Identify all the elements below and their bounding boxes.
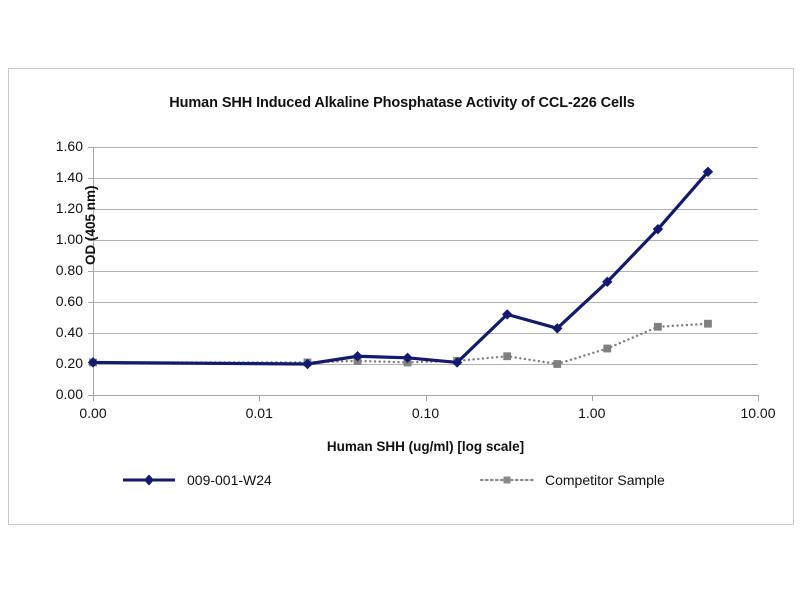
chart-figure: Human SHH Induced Alkaline Phosphatase A… [8, 68, 794, 525]
y-tick-label: 0.60 [31, 293, 83, 309]
x-axis-line [93, 395, 758, 396]
legend-swatch-dotted-square [479, 472, 535, 488]
y-tick-label: 1.40 [31, 169, 83, 185]
legend-swatch-solid-diamond [121, 472, 177, 488]
series-layer [93, 147, 758, 395]
legend-label-series-1: Competitor Sample [545, 472, 665, 488]
chart-title: Human SHH Induced Alkaline Phosphatase A… [9, 95, 795, 111]
plot-area: 0.000.200.400.600.801.001.201.401.60 0.0… [93, 147, 758, 395]
legend-item-series-0[interactable]: 009-001-W24 [121, 467, 272, 493]
data-point-marker [603, 345, 611, 353]
y-tick-label: 0.40 [31, 324, 83, 340]
x-axis-label: Human SHH (ug/ml) [log scale] [93, 439, 758, 454]
x-tick-label: 10.00 [723, 405, 793, 421]
data-point-marker [503, 352, 511, 360]
y-tick-label: 0.80 [31, 262, 83, 278]
x-tick-label: 1.00 [557, 405, 627, 421]
data-point-marker [553, 360, 561, 368]
chart-legend: 009-001-W24 Competitor Sample [9, 467, 795, 507]
x-tick-label: 0.10 [391, 405, 461, 421]
legend-item-series-1[interactable]: Competitor Sample [479, 467, 665, 493]
series-competitor-sample [89, 320, 712, 368]
legend-label-series-0: 009-001-W24 [187, 472, 272, 488]
y-tick-label: 1.00 [31, 231, 83, 247]
series-009-001-w24 [88, 167, 713, 370]
x-tick-label: 0.00 [58, 405, 128, 421]
y-tick-label: 1.60 [31, 138, 83, 154]
y-tick-label: 0.00 [31, 386, 83, 402]
x-tick-label: 0.01 [224, 405, 294, 421]
y-tick-label: 0.20 [31, 355, 83, 371]
x-tick-mark [758, 395, 759, 401]
y-tick-label: 1.20 [31, 200, 83, 216]
data-point-marker [704, 320, 712, 328]
data-point-marker [654, 323, 662, 331]
series-line [93, 172, 708, 364]
y-axis-label: OD (405 nm) [83, 185, 98, 265]
